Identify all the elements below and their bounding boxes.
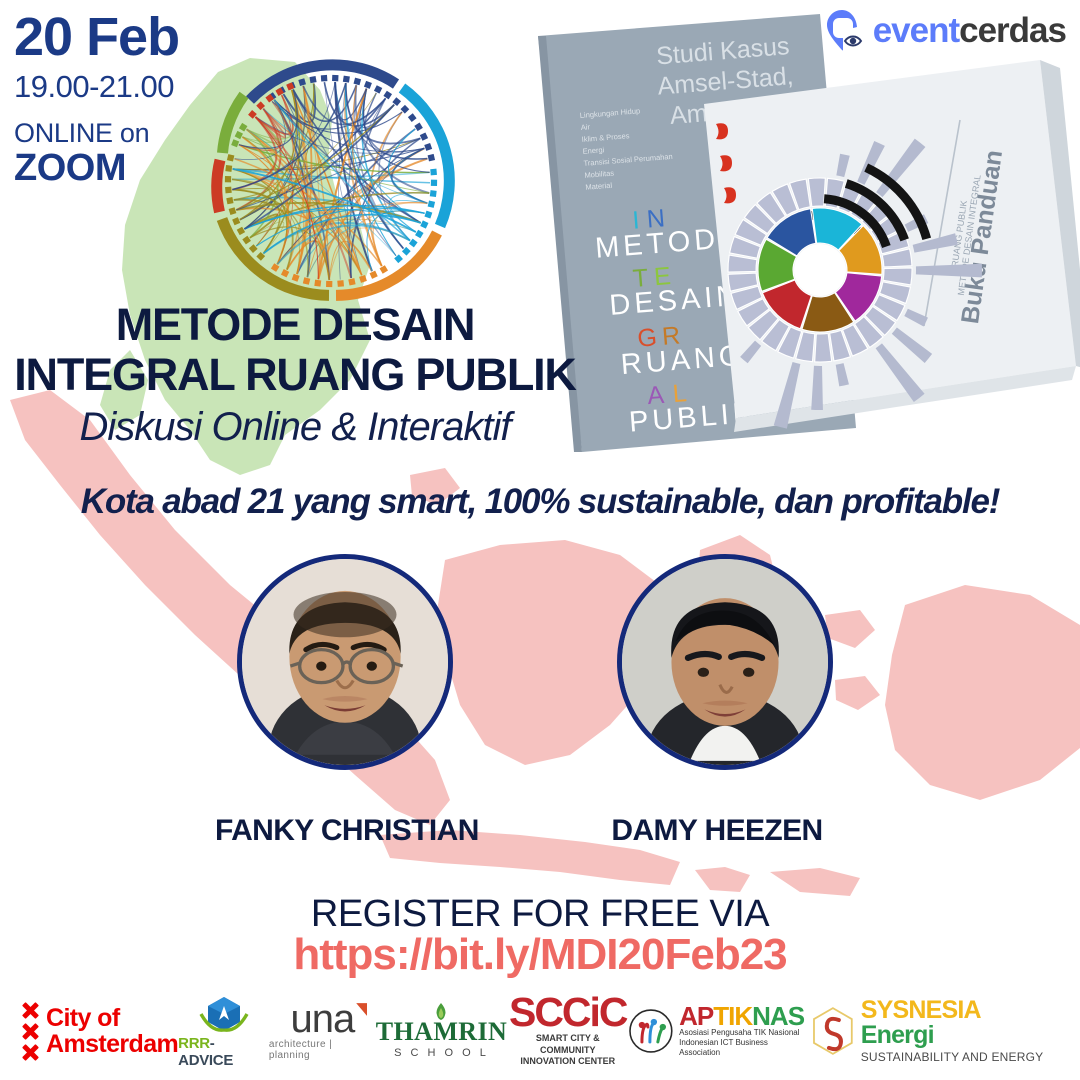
portrait-damy-heezen	[622, 559, 828, 765]
event-platform: ZOOM	[14, 149, 179, 189]
sponsor-part1: RRR	[178, 1035, 210, 1052]
sponsor-part1: AP	[679, 1001, 713, 1031]
sponsor-sccic: SCCiC SMART CITY & COMMUNITY INNOVATION …	[507, 994, 628, 1068]
sponsor-sub-line2: INNOVATION CENTER	[507, 1056, 628, 1068]
event-title-line1: METODE DESAIN	[0, 300, 590, 350]
sponsor-part3: NAS	[752, 1001, 804, 1031]
sponsor-sub-line1: Asosiasi Pengusaha TIK Nasional	[679, 1028, 810, 1038]
sponsor-aptiknas: APTIKNAS Asosiasi Pengusaha TIK Nasional…	[628, 1004, 810, 1059]
sponsor-city-of-amsterdam: City of Amsterdam	[22, 1002, 178, 1061]
speaker-damy-heezen: DAMY HEEZEN	[617, 554, 827, 848]
svg-text:Air: Air	[580, 122, 590, 132]
event-subtitle: Diskusi Online & Interaktif	[0, 403, 590, 451]
speaker-name: FANKY CHRISTIAN	[215, 814, 447, 848]
event-tagline: Kota abad 21 yang smart, 100% sustainabl…	[0, 482, 1080, 522]
event-time: 19.00-21.00	[14, 68, 179, 107]
sponsor-sub-line2: Indonesian ICT Business Association	[679, 1038, 810, 1058]
una-tick-icon	[356, 1003, 367, 1016]
sponsor-rrr-advice: RRR-ADVICE	[178, 994, 269, 1069]
brand-name-part1: event	[873, 11, 959, 50]
sponsor-word: una	[290, 997, 354, 1041]
brand-wordmark: eventcerdas	[873, 13, 1066, 48]
sponsor-sub: S C H O O L	[394, 1047, 489, 1059]
avatar	[617, 554, 833, 770]
sponsor-word: SCCiC	[509, 994, 627, 1031]
chord-network-diagram	[186, 36, 476, 326]
sysnesia-hex-s-icon	[810, 1006, 856, 1056]
brand-logo[interactable]: eventcerdas	[825, 8, 1066, 52]
sponsor-sub-line1: SMART CITY & COMMUNITY	[507, 1033, 628, 1056]
sponsor-line1: City of	[46, 1005, 178, 1031]
svg-text:Energi: Energi	[582, 145, 605, 156]
sponsor-line2: Amsterdam	[46, 1031, 178, 1057]
event-date-block: 20 Feb 19.00-21.00 ONLINE on ZOOM	[14, 10, 179, 189]
event-title-block: METODE DESAIN INTEGRAL RUANG PUBLIK Disk…	[0, 300, 590, 451]
sponsor-part1: SYSNESIA	[861, 996, 980, 1024]
sponsor-sub: SUSTAINABILITY AND ENERGY	[861, 1050, 1058, 1064]
sponsor-una: una architecture | planning	[269, 1001, 376, 1061]
avatar	[237, 554, 453, 770]
register-url-link[interactable]: https://bit.ly/MDI20Feb23	[0, 930, 1080, 980]
aptiknas-circle-icon	[628, 1008, 674, 1054]
andreas-cross-icon	[22, 1002, 39, 1061]
location-pin-eye-icon	[825, 8, 869, 52]
sponsor-logo-bar: City of Amsterdam RRR-ADVICE una a	[0, 986, 1080, 1076]
rrr-advice-hex-icon	[197, 994, 251, 1034]
event-title-line2: INTEGRAL RUANG PUBLIK	[0, 350, 590, 400]
event-online-label: ONLINE on	[14, 117, 179, 149]
brand-name-part2: cerdas	[959, 11, 1066, 50]
sponsor-sub: architecture | planning	[269, 1039, 376, 1061]
book-covers: Studi Kasus Amsel-Stad, Amsterdam Lingku…	[520, 8, 1080, 468]
sponsor-thamrin-school: THAMRIN S C H O O L	[376, 1003, 507, 1059]
sponsor-word: THAMRIN	[376, 1019, 507, 1045]
event-poster: 20 Feb 19.00-21.00 ONLINE on ZOOM eventc…	[0, 0, 1080, 1080]
sponsor-part2: Energi	[861, 1021, 934, 1049]
portrait-fanky-christian	[242, 559, 448, 765]
sponsor-part2: TIK	[713, 1001, 752, 1031]
speaker-fanky-christian: FANKY CHRISTIAN	[237, 554, 447, 848]
book-front-cover: Buku Panduan METODE DESAIN INTEGRAL RUAN…	[704, 60, 1080, 434]
speaker-name: DAMY HEEZEN	[607, 814, 827, 848]
event-date: 20 Feb	[14, 10, 179, 64]
sponsor-sysnesia-energi: SYSNESIA Energi SUSTAINABILITY AND ENERG…	[810, 998, 1058, 1064]
